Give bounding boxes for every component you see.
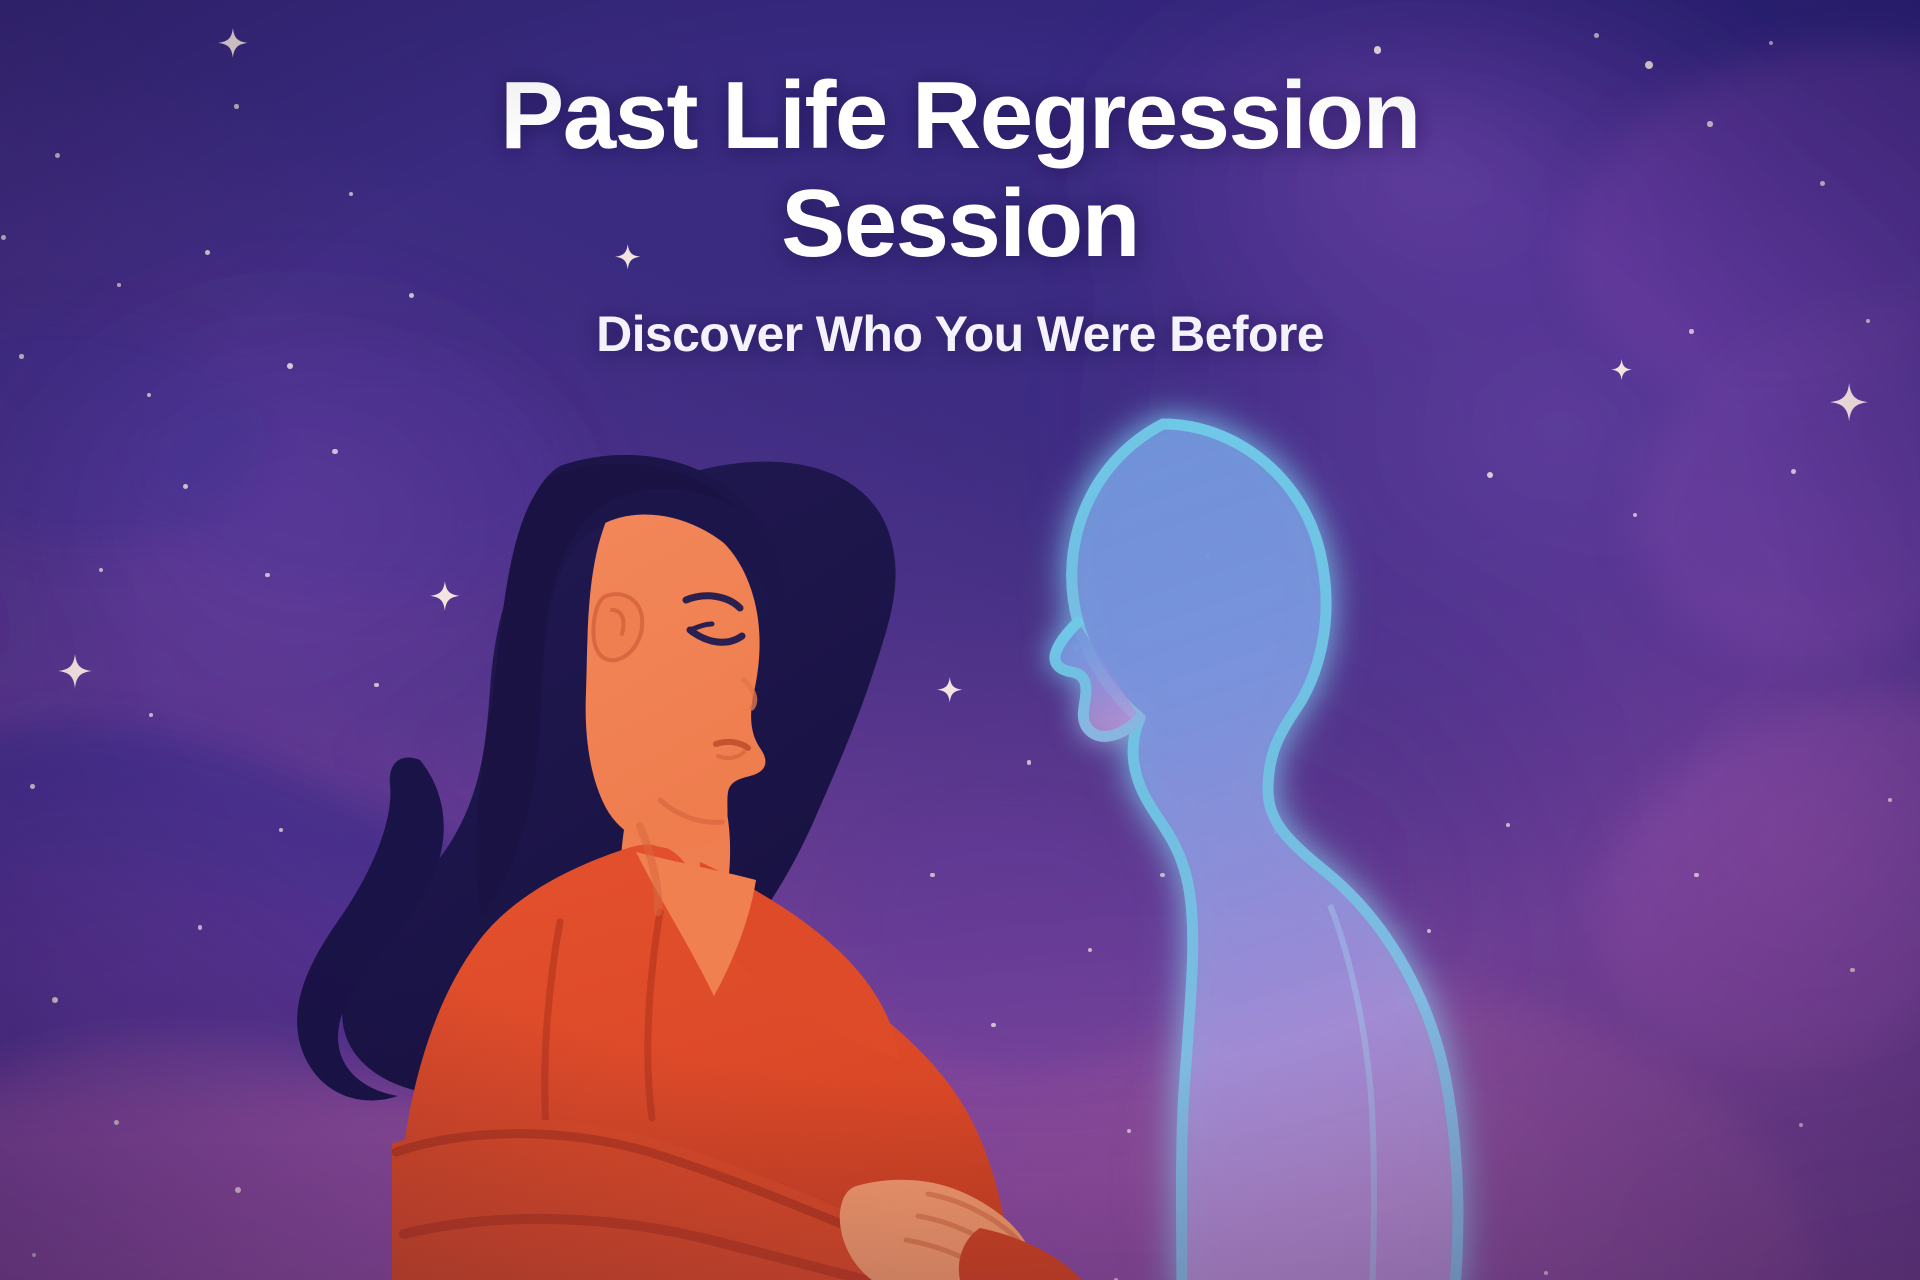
meditating-woman	[0, 0, 1920, 1280]
poster-canvas: Past Life Regression Session Discover Wh…	[0, 0, 1920, 1280]
